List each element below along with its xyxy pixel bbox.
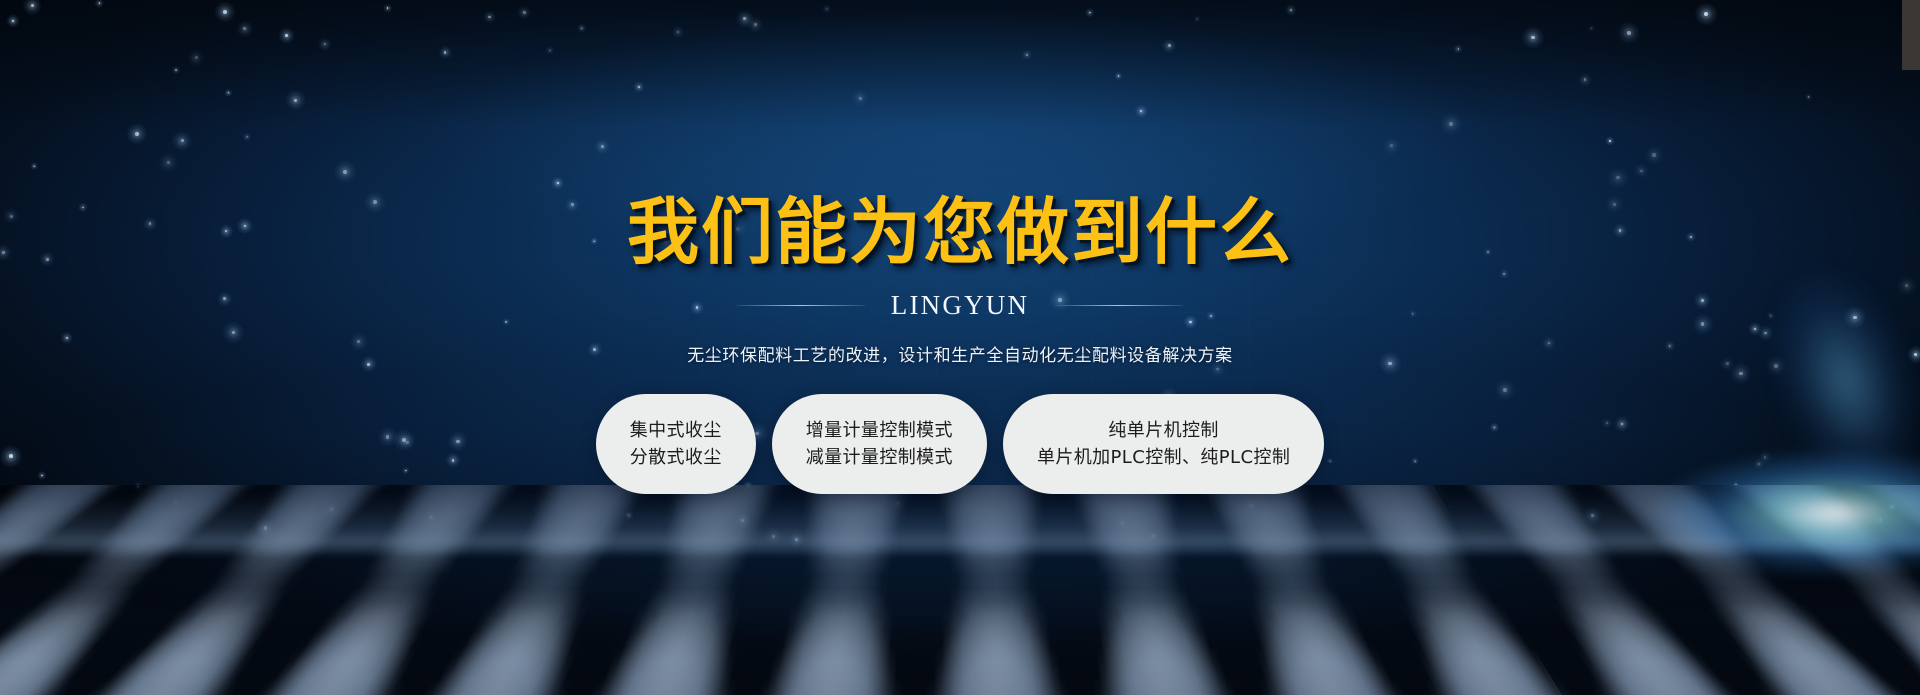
digital-plane [0,485,1920,695]
banner-description: 无尘环保配料工艺的改进，设计和生产全自动化无尘配料设备解决方案 [0,341,1920,366]
feature-card-line: 集中式收尘 [630,422,722,440]
feature-card-line: 增量计量控制模式 [806,422,953,440]
divider-line-right [1055,305,1183,306]
star-particle [175,502,176,503]
feature-card[interactable]: 纯单片机控制 单片机加PLC控制、纯PLC控制 [1003,394,1324,494]
hero-banner: 我们能为您做到什么 LINGYUN 无尘环保配料工艺的改进，设计和生产全自动化无… [0,0,1920,695]
star-particle [1880,519,1882,521]
feature-card-line: 纯单片机控制 [1108,422,1218,440]
feature-card-line: 减量计量控制模式 [806,449,953,467]
horizon-haze [0,493,1920,555]
star-particle [1591,514,1594,517]
digital-plane-tint [0,485,1920,695]
feature-card[interactable]: 增量计量控制模式 减量计量控制模式 [772,394,987,494]
page-title: 我们能为您做到什么 [0,196,1920,268]
subtitle-english: LINGYUN [891,290,1029,321]
star-particle [1121,522,1123,524]
star-particle [897,502,900,505]
star-particle [330,507,333,510]
star-particle [1891,506,1893,508]
star-particle [741,519,744,522]
star-particle [772,535,775,538]
star-particle [1152,535,1154,537]
window-corner-artifact [1902,0,1920,70]
star-particle [430,516,432,518]
banner-content: 我们能为您做到什么 LINGYUN 无尘环保配料工艺的改进，设计和生产全自动化无… [0,0,1920,494]
star-particle [795,538,798,541]
subtitle-row: LINGYUN [0,290,1920,321]
feature-card-line: 分散式收尘 [630,449,722,467]
feature-card-list: 集中式收尘 分散式收尘 增量计量控制模式 减量计量控制模式 纯单片机控制 单片机… [0,394,1920,494]
star-particle [264,526,268,530]
divider-line-left [737,305,865,306]
star-particle [628,515,630,517]
feature-card[interactable]: 集中式收尘 分散式收尘 [596,394,756,494]
feature-card-line: 单片机加PLC控制、纯PLC控制 [1037,449,1290,467]
star-particle [1250,504,1253,507]
